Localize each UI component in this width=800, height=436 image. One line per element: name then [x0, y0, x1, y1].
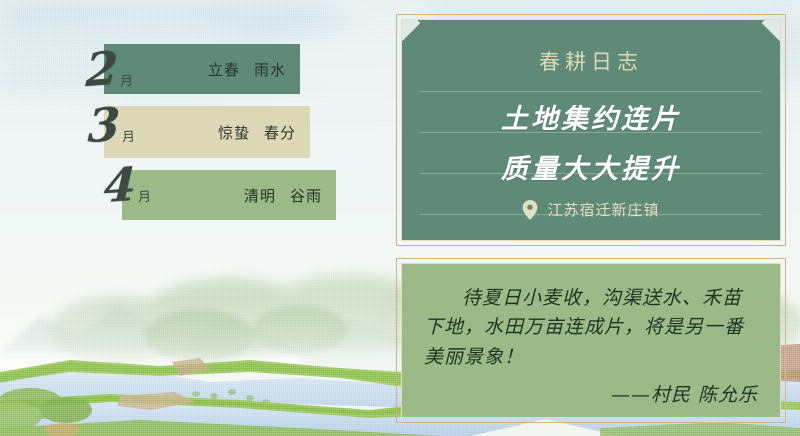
journal-headline-2: 质量大大提升	[501, 147, 681, 186]
solar-terms-month-3: 惊蛰春分	[218, 122, 296, 143]
journal-content: 春耕日志 土地集约连片 质量大大提升 江苏宿迁新庄镇	[402, 20, 780, 240]
solar-terms-month-4: 清明谷雨	[244, 185, 322, 206]
journal-card-inner: 春耕日志 土地集约连片 质量大大提升 江苏宿迁新庄镇	[401, 19, 781, 241]
journal-title: 春耕日志	[539, 46, 643, 76]
calendar-row-month-4: 清明谷雨	[122, 170, 336, 220]
journal-location: 江苏宿迁新庄镇	[522, 199, 659, 220]
poster-canvas: 立春雨水 惊蛰春分 清明谷雨 2 月 3 月 4 月	[0, 0, 800, 436]
quote-attribution: ——村民 陈允乐	[611, 380, 758, 407]
solar-terms-month-2: 立春雨水	[208, 59, 286, 80]
calendar-row-month-2: 立春雨水	[104, 44, 300, 94]
solar-term-calendar: 立春雨水 惊蛰春分 清明谷雨 2 月 3 月 4 月	[104, 44, 300, 232]
quote-text: 待夏日小麦收，沟渠送水、禾苗下地，水田万亩连成片，将是另一番美丽景象！	[424, 284, 758, 372]
journal-headline-1: 土地集约连片	[501, 97, 681, 136]
quote-content: 待夏日小麦收，沟渠送水、禾苗下地，水田万亩连成片，将是另一番美丽景象！ ——村民…	[402, 264, 780, 417]
spring-farming-journal-card: 春耕日志 土地集约连片 质量大大提升 江苏宿迁新庄镇	[396, 14, 786, 246]
quote-card-inner: 待夏日小麦收，沟渠送水、禾苗下地，水田万亩连成片，将是另一番美丽景象！ ——村民…	[401, 263, 781, 418]
calendar-row-month-3: 惊蛰春分	[104, 106, 310, 158]
map-pin-icon	[522, 200, 538, 220]
villager-quote-card: 待夏日小麦收，沟渠送水、禾苗下地，水田万亩连成片，将是另一番美丽景象！ ——村民…	[396, 258, 786, 423]
journal-location-text: 江苏宿迁新庄镇	[547, 199, 659, 220]
